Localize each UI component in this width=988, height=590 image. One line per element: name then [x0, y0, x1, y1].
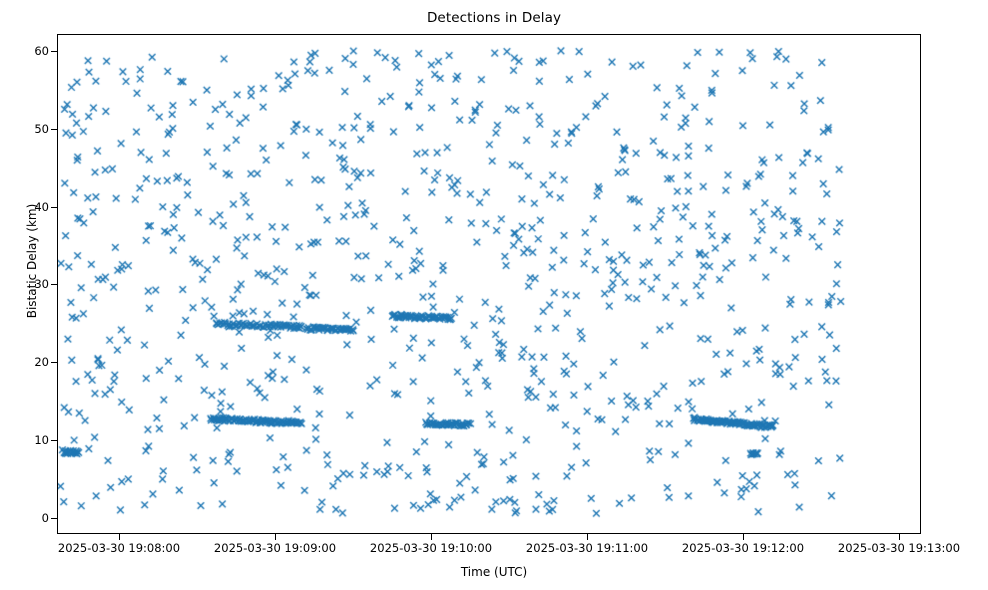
x-tick-label: 2025-03-30 19:13:00 [838, 541, 960, 555]
x-tick-mark [431, 534, 432, 540]
x-tick-mark [119, 534, 120, 540]
x-tick-mark [899, 534, 900, 540]
y-tick-label: 60 [34, 44, 49, 58]
y-tick-label: 50 [34, 122, 49, 136]
x-axis-label: Time (UTC) [0, 565, 988, 579]
x-tick-label: 2025-03-30 19:10:00 [370, 541, 492, 555]
y-tick-label: 30 [34, 277, 49, 291]
x-tick-mark [587, 534, 588, 540]
matplotlib-figure: Detections in Delay Bistatic Delay (km) … [0, 0, 988, 590]
y-tick-label: 20 [34, 355, 49, 369]
y-axis-tick-labels: 0102030405060 [0, 0, 49, 590]
x-tick-label: 2025-03-30 19:12:00 [682, 541, 804, 555]
x-tick-label: 2025-03-30 19:11:00 [526, 541, 648, 555]
x-tick-mark [275, 534, 276, 540]
y-tick-label: 0 [42, 511, 49, 525]
chart-title: Detections in Delay [0, 10, 988, 26]
scatter-plot-canvas [58, 35, 920, 533]
x-tick-label: 2025-03-30 19:08:00 [58, 541, 180, 555]
x-tick-mark [743, 534, 744, 540]
y-tick-label: 40 [34, 200, 49, 214]
x-tick-label: 2025-03-30 19:09:00 [214, 541, 336, 555]
y-tick-label: 10 [34, 433, 49, 447]
plot-axes [57, 34, 921, 534]
